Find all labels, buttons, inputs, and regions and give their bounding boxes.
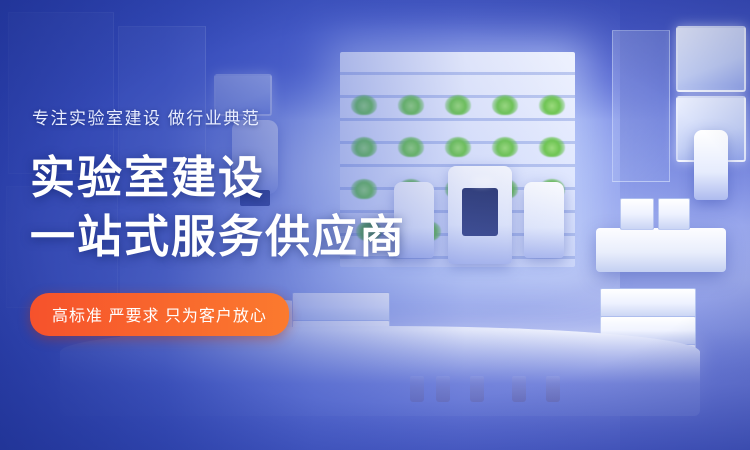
hero-banner: 专注实验室建设 做行业典范 实验室建设 一站式服务供应商 高标准 严要求 只为客… — [0, 0, 750, 450]
hero-cta-button[interactable]: 高标准 严要求 只为客户放心 — [30, 293, 289, 336]
hero-headline-line2: 一站式服务供应商 — [30, 210, 460, 263]
hero-headline-line1: 实验室建设 — [30, 151, 460, 204]
hero-kicker: 专注实验室建设 做行业典范 — [32, 104, 460, 129]
hero-text-block: 专注实验室建设 做行业典范 实验室建设 一站式服务供应商 高标准 严要求 只为客… — [30, 104, 460, 336]
